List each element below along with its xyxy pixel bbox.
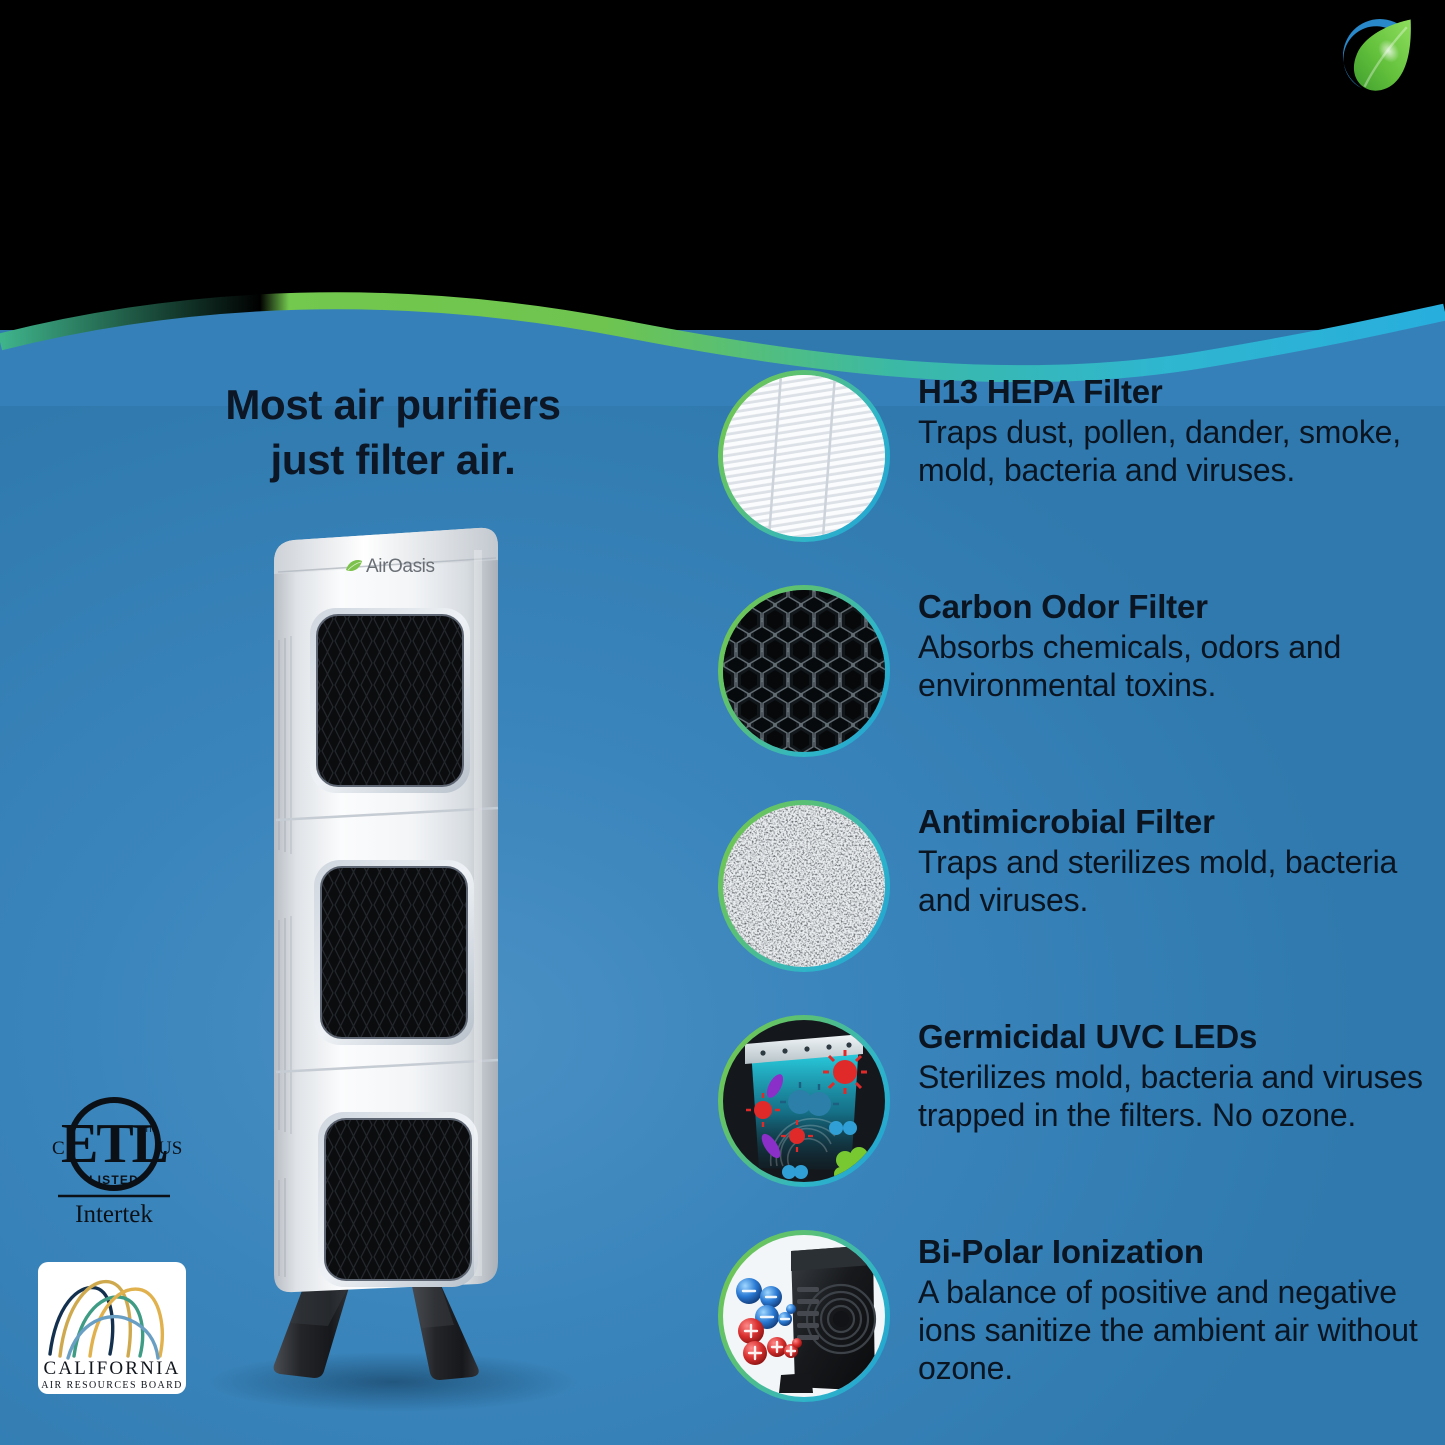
svg-text:LISTED: LISTED (89, 1173, 139, 1187)
feature-row-antimicrobial: Antimicrobial Filter Traps and sterilize… (718, 798, 1428, 1013)
purifier-vent-panel-3 (318, 1112, 478, 1287)
purifier-vent-panel-2 (314, 860, 474, 1045)
carbon-filter-icon (718, 585, 890, 757)
feature-text-antimicrobial: Antimicrobial Filter Traps and sterilize… (890, 798, 1428, 919)
svg-text:C: C (52, 1138, 65, 1159)
feature-title: Carbon Odor Filter (918, 589, 1428, 626)
left-heading-line1: Most air purifiers (178, 378, 608, 433)
feature-title: Bi-Polar Ionization (918, 1234, 1428, 1271)
feature-description: Sterilizes mold, bacteria and viruses tr… (918, 1058, 1428, 1134)
feature-description: Absorbs chemicals, odors and environment… (918, 628, 1428, 704)
feature-row-ionization: Bi-Polar Ionization A balance of positiv… (718, 1228, 1428, 1443)
infographic-page: Filter + Sanitize (0, 0, 1445, 1445)
carb-line1: CALIFORNIA (43, 1358, 180, 1379)
air-purifier-product: AirOasis (178, 520, 598, 1420)
etl-listed-badge: ETL TM LISTED C US Intertek (34, 1092, 194, 1232)
feature-title: Germicidal UVC LEDs (918, 1019, 1428, 1056)
feature-text-carbon: Carbon Odor Filter Absorbs chemicals, od… (890, 583, 1428, 704)
purifier-vent-panel-1 (310, 608, 470, 793)
left-heading-line2: just filter air. (178, 433, 608, 488)
svg-text:ETL: ETL (61, 1113, 167, 1175)
left-heading: Most air purifiers just filter air. (178, 378, 608, 487)
carb-line2: AIR RESOURCES BOARD (41, 1380, 183, 1391)
hepa-filter-icon (718, 370, 890, 542)
svg-text:Intertek: Intertek (75, 1201, 153, 1228)
carb-badge: CALIFORNIA AIR RESOURCES BOARD (38, 1262, 186, 1394)
feature-row-uvc: Germicidal UVC LEDs Sterilizes mold, bac… (718, 1013, 1428, 1228)
feature-title: Antimicrobial Filter (918, 804, 1428, 841)
feature-row-hepa: H13 HEPA Filter Traps dust, pollen, dand… (718, 368, 1428, 583)
feature-text-hepa: H13 HEPA Filter Traps dust, pollen, dand… (890, 368, 1428, 489)
svg-text:US: US (158, 1138, 182, 1159)
feature-title: H13 HEPA Filter (918, 374, 1428, 411)
feature-list: H13 HEPA Filter Traps dust, pollen, dand… (718, 368, 1428, 1443)
leaf-circle-logo (1329, 8, 1427, 104)
feature-description: Traps dust, pollen, dander, smoke, mold,… (918, 413, 1428, 489)
uvc-led-icon (718, 1015, 890, 1187)
feature-description: A balance of positive and negative ions … (918, 1273, 1428, 1387)
antimicrobial-filter-icon (718, 800, 890, 972)
feature-description: Traps and sterilizes mold, bacteria and … (918, 843, 1428, 919)
feature-text-uvc: Germicidal UVC LEDs Sterilizes mold, bac… (890, 1013, 1428, 1134)
svg-text:TM: TM (144, 1124, 157, 1134)
bipolar-ionization-icon (718, 1230, 890, 1402)
svg-text:AirOasis: AirOasis (366, 556, 435, 577)
feature-text-ionization: Bi-Polar Ionization A balance of positiv… (890, 1228, 1428, 1387)
feature-row-carbon: Carbon Odor Filter Absorbs chemicals, od… (718, 583, 1428, 798)
